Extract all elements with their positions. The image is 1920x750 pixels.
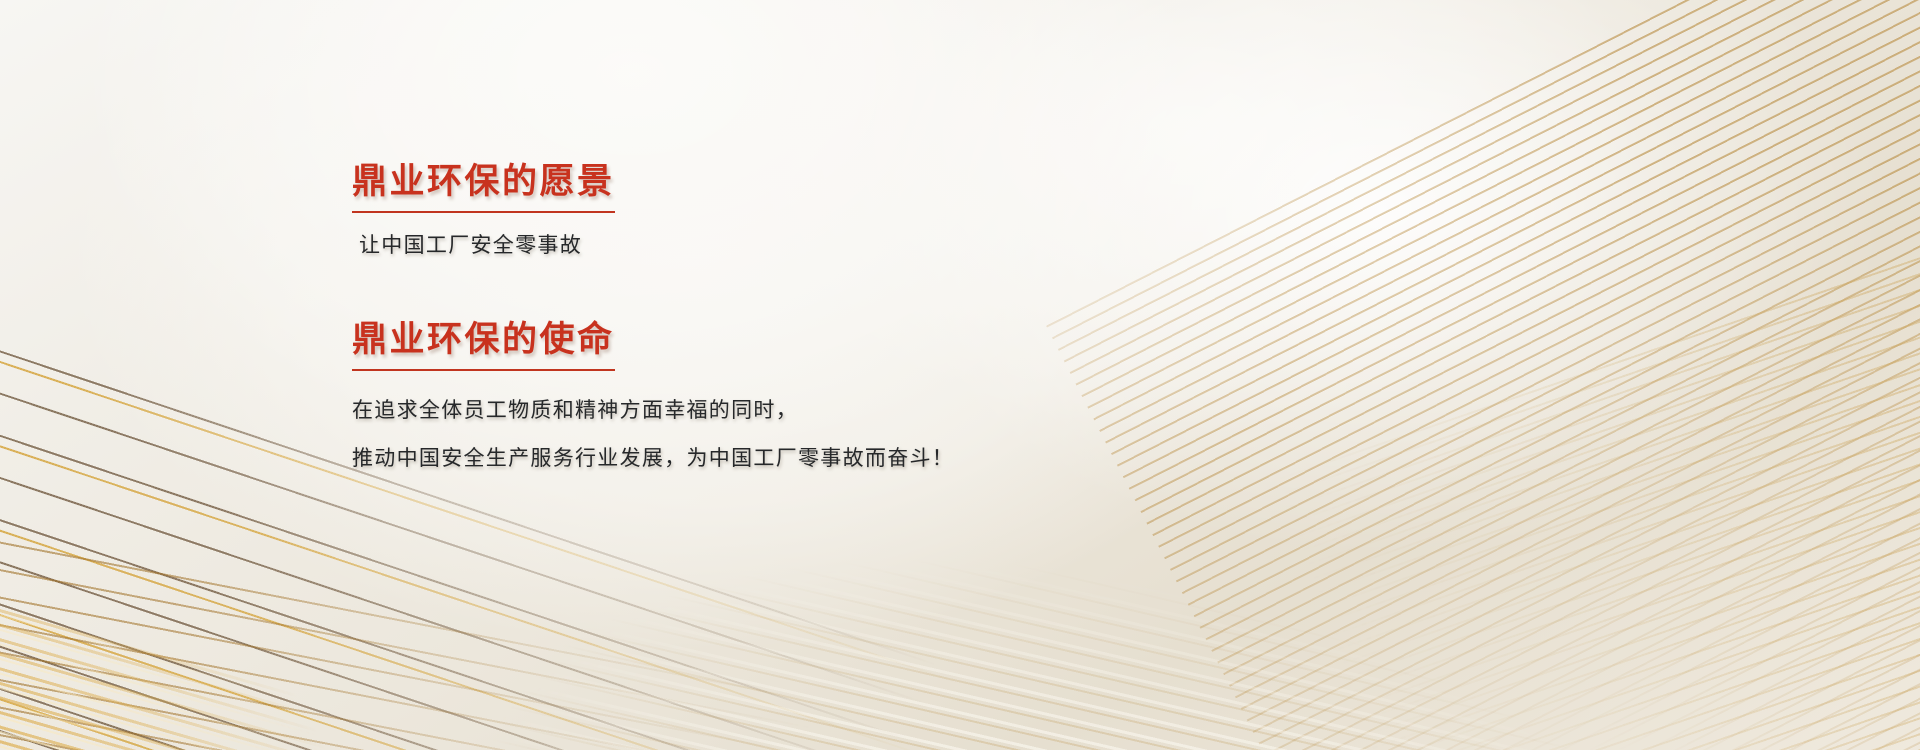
- gold-fan-bottom-left-corner: [0, 560, 686, 750]
- mission-body-line-1: 在追求全体员工物质和精神方面幸福的同时，: [352, 395, 1452, 428]
- mission-body: 在追求全体员工物质和精神方面幸福的同时， 推动中国安全生产服务行业发展，为中国工…: [352, 395, 1452, 475]
- diagonal-lines-bottom-left: [0, 470, 1172, 750]
- vision-heading: 鼎业环保的愿景: [352, 160, 615, 213]
- silky-gold-sweep-bottom: [434, 430, 1920, 750]
- vision-block: 鼎业环保的愿景 让中国工厂安全零事故: [352, 160, 1452, 261]
- vision-mission-banner: 鼎业环保的愿景 让中国工厂安全零事故 鼎业环保的使命 在追求全体员工物质和精神方…: [0, 0, 1920, 750]
- mission-body-line-2: 推动中国安全生产服务行业发展，为中国工厂零事故而奋斗！: [352, 443, 1452, 476]
- vision-subtitle: 让中国工厂安全零事故: [359, 230, 1452, 262]
- banner-content: 鼎业环保的愿景 让中国工厂安全零事故 鼎业环保的使命 在追求全体员工物质和精神方…: [352, 160, 1452, 475]
- mission-block: 鼎业环保的使命 在追求全体员工物质和精神方面幸福的同时， 推动中国安全生产服务行…: [352, 318, 1452, 475]
- mission-heading: 鼎业环保的使命: [352, 318, 615, 371]
